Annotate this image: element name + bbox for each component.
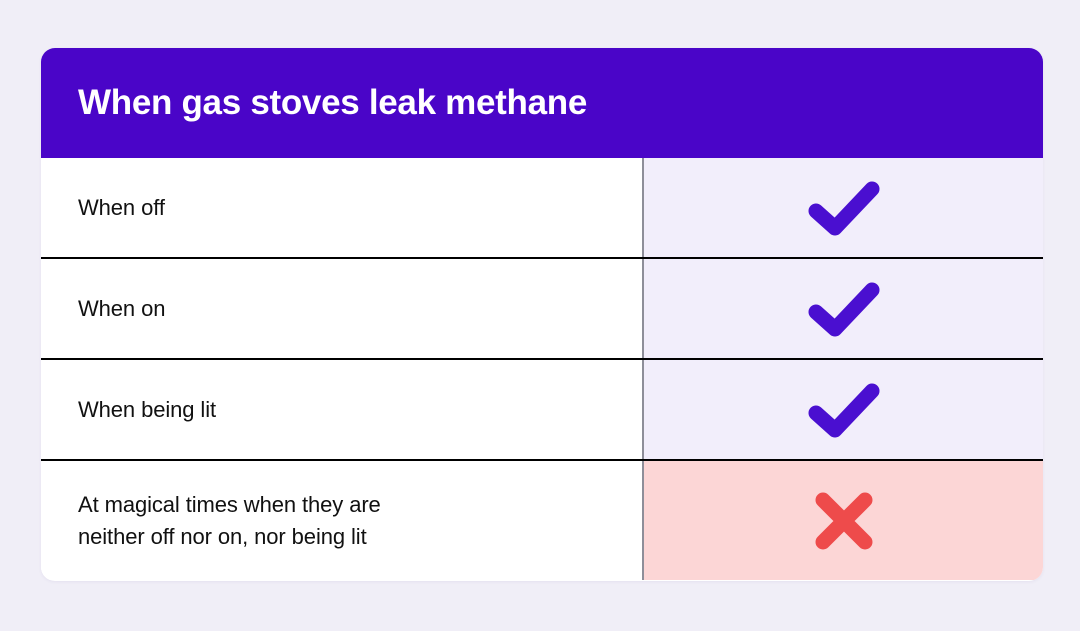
row-label: At magical times when they are neither o… [78, 489, 381, 551]
table-cell-mark [644, 259, 1043, 358]
table-cell-label: When being lit [41, 360, 644, 459]
table-row: At magical times when they are neither o… [41, 461, 1043, 580]
table-cell-mark [644, 360, 1043, 459]
table-cell-label: When on [41, 259, 644, 358]
cross-icon [813, 490, 875, 552]
table-cell-label: When off [41, 158, 644, 257]
table-row: When off [41, 158, 1043, 259]
row-label: When being lit [78, 394, 216, 425]
page-root: When gas stoves leak methane When off Wh… [0, 0, 1080, 631]
page-title: When gas stoves leak methane [78, 84, 587, 123]
table-cell-mark [644, 158, 1043, 257]
card-header: When gas stoves leak methane [41, 48, 1043, 158]
table-row: When on [41, 259, 1043, 360]
row-label: When off [78, 192, 165, 223]
check-icon [808, 281, 880, 337]
check-icon [808, 180, 880, 236]
row-label: When on [78, 293, 165, 324]
comparison-table: When off When on [41, 158, 1043, 580]
table-cell-mark [644, 461, 1043, 580]
methane-leak-card: When gas stoves leak methane When off Wh… [41, 48, 1043, 581]
row-label-line-1: At magical times when they are [78, 492, 381, 517]
row-label-line-2: neither off nor on, nor being lit [78, 524, 367, 549]
table-cell-label: At magical times when they are neither o… [41, 461, 644, 580]
table-row: When being lit [41, 360, 1043, 461]
check-icon [808, 382, 880, 438]
